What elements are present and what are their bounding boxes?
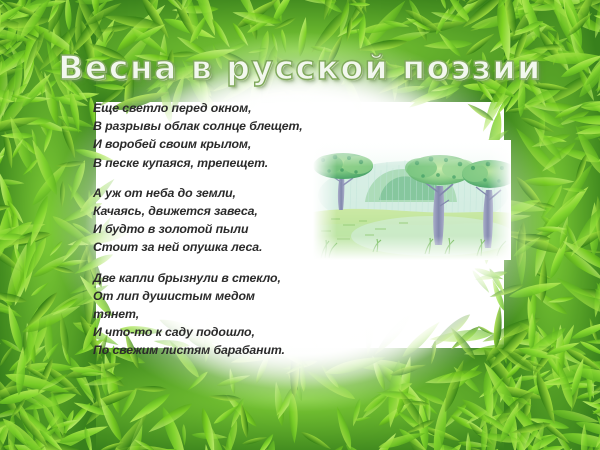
poem-line: От лип душистым медом	[93, 287, 318, 305]
poem-line: По свежим листям барабанит.	[93, 341, 318, 359]
poem-line: И что-то к саду подошло,	[93, 323, 318, 341]
poem-line: В разрывы облак солнце блещет,	[93, 117, 318, 135]
poem-line: И будто в золотой пыли	[93, 220, 318, 238]
poem-line: Качаясь, движется завеса,	[93, 202, 318, 220]
page-title: Весна в русской поэзии	[0, 48, 600, 87]
slide-canvas: Весна в русской поэзии Еще светло перед …	[0, 0, 600, 450]
poem-line: И воробей своим крылом,	[93, 135, 318, 153]
poem-stanza: Две капли брызнули в стекло, От лип души…	[93, 269, 318, 360]
poem-line: Еще светло перед окном,	[93, 99, 318, 117]
poem-body: Еще светло перед окном, В разрывы облак …	[93, 99, 318, 360]
poem-stanza: Еще светло перед окном, В разрывы облак …	[93, 99, 318, 172]
poem-line: Стоит за ней опушка леса.	[93, 238, 318, 256]
poem-line: тянет,	[93, 305, 318, 323]
poem-line: Две капли брызнули в стекло,	[93, 269, 318, 287]
poem-line: А уж от неба до земли,	[93, 184, 318, 202]
poem-stanza: А уж от неба до земли, Качаясь, движется…	[93, 184, 318, 257]
poem-line: В песке купаяся, трепещет.	[93, 154, 318, 172]
watercolor-landscape-image	[313, 140, 511, 260]
